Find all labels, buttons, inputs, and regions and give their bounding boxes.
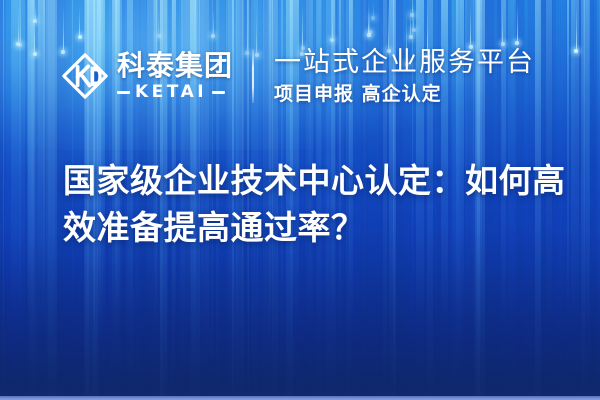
ketai-diamond-logo-icon (62, 53, 108, 99)
brand-logo[interactable]: 科泰集团 KETAI (62, 51, 233, 101)
page-title: 国家级企业技术中心认定：如何高效准备提高通过率？ (63, 157, 568, 251)
banner-header: 科泰集团 KETAI 一站式企业服务平台 项目申报 高企认定 (0, 40, 600, 112)
brand-name-cn: 科泰集团 (117, 51, 233, 81)
logo-dash-right-icon (212, 91, 225, 94)
brand-name-en-row: KETAI (117, 83, 233, 101)
brand-logo-text: 科泰集团 KETAI (117, 51, 233, 101)
slogan-secondary: 项目申报 高企认定 (274, 83, 535, 105)
bottom-border-line (0, 396, 600, 400)
header-slogan: 一站式企业服务平台 项目申报 高企认定 (274, 48, 535, 105)
banner-image: 科泰集团 KETAI 一站式企业服务平台 项目申报 高企认定 国家级企业技术中心… (0, 0, 600, 400)
brand-name-en: KETAI (135, 83, 207, 101)
header-divider (252, 49, 254, 103)
slogan-primary: 一站式企业服务平台 (274, 48, 535, 78)
logo-dash-left-icon (117, 91, 130, 94)
